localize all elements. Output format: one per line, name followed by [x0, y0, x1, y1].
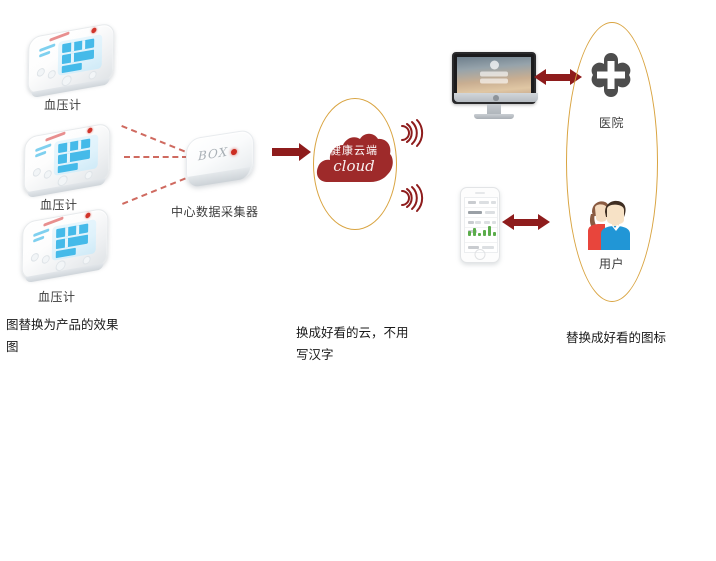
device-label-bpm-1: 血压计: [44, 96, 82, 113]
users-avatar-icon: [583, 198, 639, 254]
monitor-chin: [454, 93, 538, 102]
device-led-icon: [85, 212, 90, 219]
device-button: [44, 169, 52, 180]
apple-logo-icon: [493, 95, 499, 101]
note-devices-line-2: 图: [6, 336, 119, 358]
phone-screen: [464, 197, 498, 253]
phone-home-button[interactable]: [475, 249, 486, 260]
device-side-text: [35, 151, 46, 158]
note-cloud: 换成好看的云，不用 写汉字: [296, 322, 409, 366]
arrow-computer-to-hospital: [545, 74, 571, 81]
device-button: [37, 67, 45, 78]
diagram-canvas: 血压计 血压计: [0, 0, 716, 561]
wifi-signal-icon: [398, 118, 428, 152]
blood-pressure-monitor-icon: [24, 130, 112, 192]
wifi-signal-icon: [398, 183, 428, 217]
blood-pressure-monitor-icon: [22, 215, 110, 277]
login-field: [480, 78, 508, 83]
device-led-icon: [91, 27, 96, 34]
arrow-collector-to-cloud: [272, 148, 300, 156]
device-led-icon: [87, 127, 92, 134]
monitor-display: [457, 57, 531, 94]
note-icons-line-1: 替换成好看的图标: [566, 327, 666, 349]
arrow-phone-to-user: [513, 219, 539, 226]
note-cloud-line-2: 写汉字: [296, 344, 409, 366]
data-collector-box-icon: BOX: [186, 134, 266, 196]
connector-bpm-1-to-collector: [121, 125, 185, 152]
device-button: [85, 170, 93, 181]
desktop-computer-icon: [452, 52, 536, 122]
device-label-bpm-3: 血压计: [38, 288, 76, 305]
smartphone-icon: [460, 187, 500, 263]
login-dialog: [477, 60, 511, 85]
device-button: [33, 167, 41, 178]
device-button: [31, 252, 39, 263]
device-button: [48, 69, 56, 80]
connector-bpm-2-to-collector: [124, 156, 188, 158]
monitor-stand-foot: [474, 114, 514, 119]
phone-speaker: [475, 192, 485, 194]
collector-label: 中心数据采集器: [171, 203, 259, 220]
monitor-bezel: [452, 52, 536, 104]
connector-bpm-3-to-collector: [122, 178, 186, 205]
hospital-cross-icon: [588, 52, 634, 102]
note-cloud-line-1: 换成好看的云，不用: [296, 322, 409, 344]
blood-pressure-monitor-icon: [28, 30, 116, 92]
device-button: [42, 254, 50, 265]
cloud-icon: 健康云端 cloud: [314, 130, 394, 188]
note-devices-line-1: 图替换为产品的效果: [6, 314, 119, 336]
device-side-text: [33, 236, 44, 243]
cloud-shape: [314, 130, 394, 188]
device-side-text: [39, 51, 50, 58]
phone-shell: [460, 187, 500, 263]
note-icons: 替换成好看的图标: [566, 327, 666, 349]
device-button: [58, 174, 68, 188]
note-devices: 图替换为产品的效果 图: [6, 314, 119, 358]
endpoint-label-hospital: 医院: [599, 114, 624, 131]
device-button: [56, 259, 66, 273]
device-button: [83, 255, 91, 266]
device-button: [62, 74, 72, 88]
device-label-bpm-2: 血压计: [40, 196, 78, 213]
login-avatar: [490, 60, 499, 69]
login-field: [480, 71, 508, 76]
health-bar-chart: [468, 224, 496, 236]
endpoint-label-user: 用户: [599, 255, 624, 272]
device-button: [89, 70, 97, 81]
